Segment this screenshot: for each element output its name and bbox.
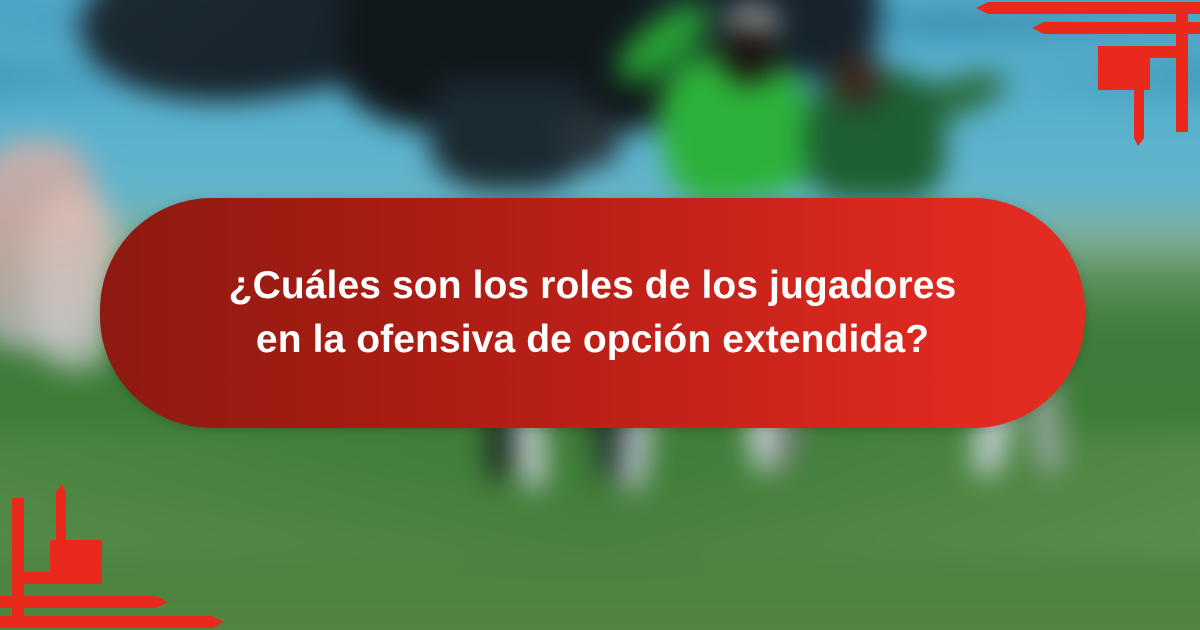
player-figure <box>832 52 884 108</box>
title-card: ¿Cuáles son los roles de los jugadores e… <box>100 198 1085 428</box>
player-figure <box>560 110 620 168</box>
page-title: ¿Cuáles son los roles de los jugadores e… <box>213 259 973 367</box>
player-figure <box>720 22 778 84</box>
og-image-canvas: ¿Cuáles son los roles de los jugadores e… <box>0 0 1200 630</box>
